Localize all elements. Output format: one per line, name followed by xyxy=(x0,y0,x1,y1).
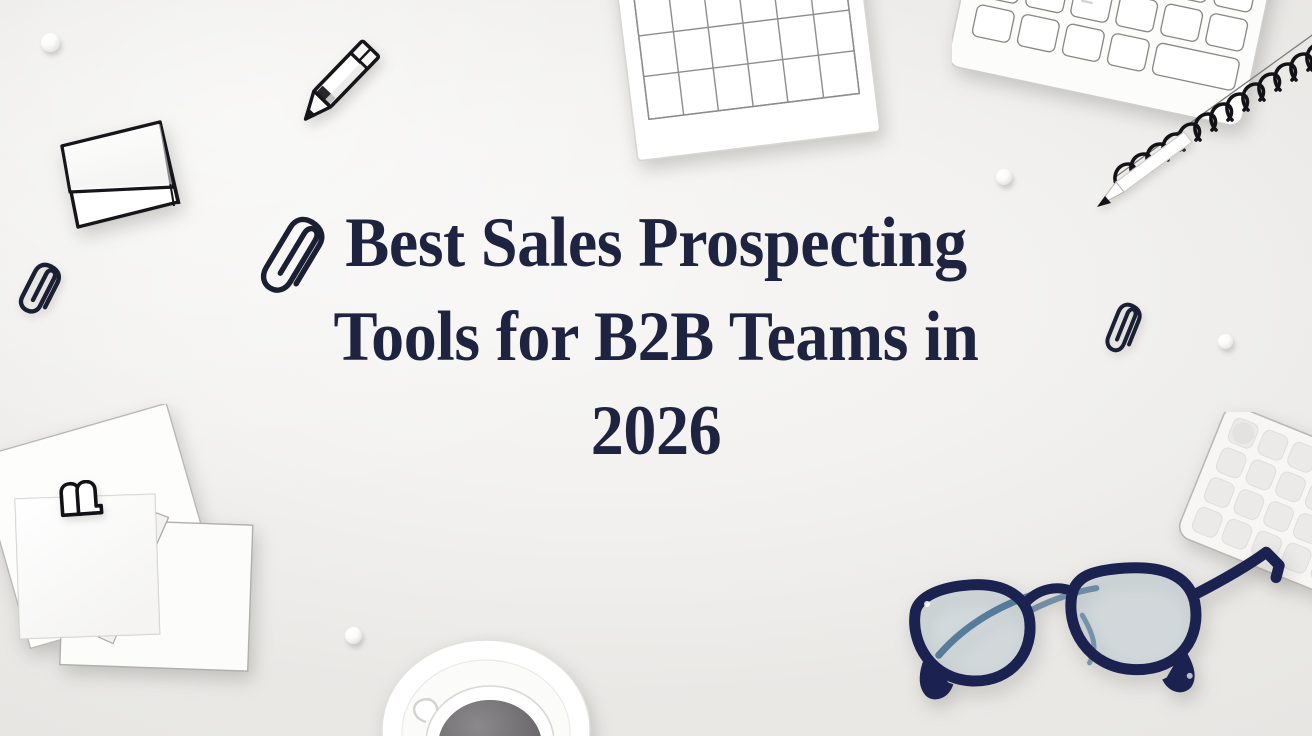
pearl-pin-right-icon xyxy=(1218,334,1233,349)
envelope-icon xyxy=(48,84,208,234)
binder-clip-icon xyxy=(56,480,106,528)
calendar-sheet-icon xyxy=(604,0,904,186)
pen-white-icon xyxy=(1078,126,1198,216)
hero-banner: Best Sales Prospecting Tools for B2B Tea… xyxy=(0,0,1312,736)
pearl-pin-bottom-icon xyxy=(345,627,362,644)
paperclip-left-icon xyxy=(14,255,78,329)
paperclip-right-icon xyxy=(1098,296,1158,366)
paper-stack-icon xyxy=(0,404,290,704)
pearl-pin-top-right-icon xyxy=(996,169,1012,185)
pencil-icon xyxy=(272,22,398,148)
coffee-cup-icon xyxy=(368,638,608,736)
pearl-pin-top-left-icon xyxy=(41,33,60,52)
paperclip-title-icon xyxy=(252,206,342,316)
eyeglasses-icon xyxy=(880,540,1312,736)
